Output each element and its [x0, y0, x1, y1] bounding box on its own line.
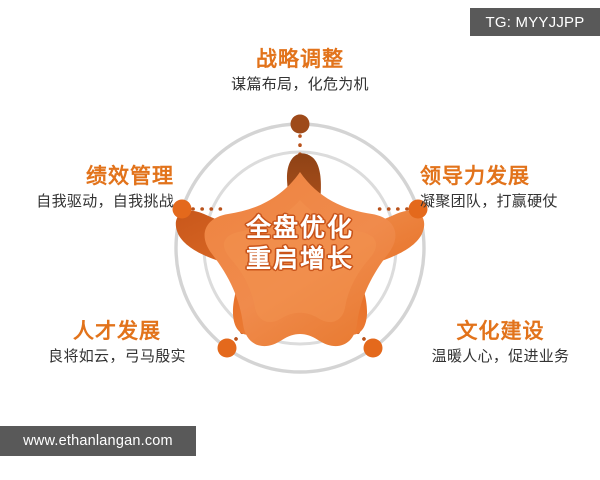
node-title-strategy-adjustment: 战略调整 [195, 48, 405, 72]
node-title-leadership-development: 领导力发展 [420, 165, 600, 189]
node-title-culture-building: 文化建设 [408, 320, 593, 344]
star-shape [176, 153, 424, 346]
node-label-culture-building: 文化建设 温暖人心，促进业务 [408, 320, 593, 366]
node-label-leadership-development: 领导力发展 凝聚团队，打赢硬仗 [420, 165, 600, 211]
node-subtitle-talent-development: 良将如云，弓马殷实 [12, 348, 222, 366]
node-dot-strategy-adjustment [291, 115, 310, 134]
node-subtitle-strategy-adjustment: 谋篇布局，化危为机 [195, 76, 405, 94]
node-subtitle-performance-management: 自我驱动，自我挑战 [0, 193, 188, 211]
node-subtitle-culture-building: 温暖人心，促进业务 [408, 348, 593, 366]
node-label-strategy-adjustment: 战略调整 谋篇布局，化危为机 [195, 48, 405, 94]
infographic-canvas: 全盘优化 重启增长 战略调整 谋篇布局，化危为机 绩效管理 自我驱动，自我挑战 … [0, 0, 600, 480]
telegram-watermark: TG: MYYJJPP [470, 8, 600, 36]
node-dot-culture-building [364, 339, 383, 358]
website-watermark: www.ethanlangan.com [0, 426, 196, 456]
node-label-talent-development: 人才发展 良将如云，弓马殷实 [12, 320, 222, 366]
node-label-performance-management: 绩效管理 自我驱动，自我挑战 [0, 165, 188, 211]
node-title-talent-development: 人才发展 [12, 320, 222, 344]
node-subtitle-leadership-development: 凝聚团队，打赢硬仗 [420, 193, 600, 211]
node-title-performance-management: 绩效管理 [0, 165, 188, 189]
